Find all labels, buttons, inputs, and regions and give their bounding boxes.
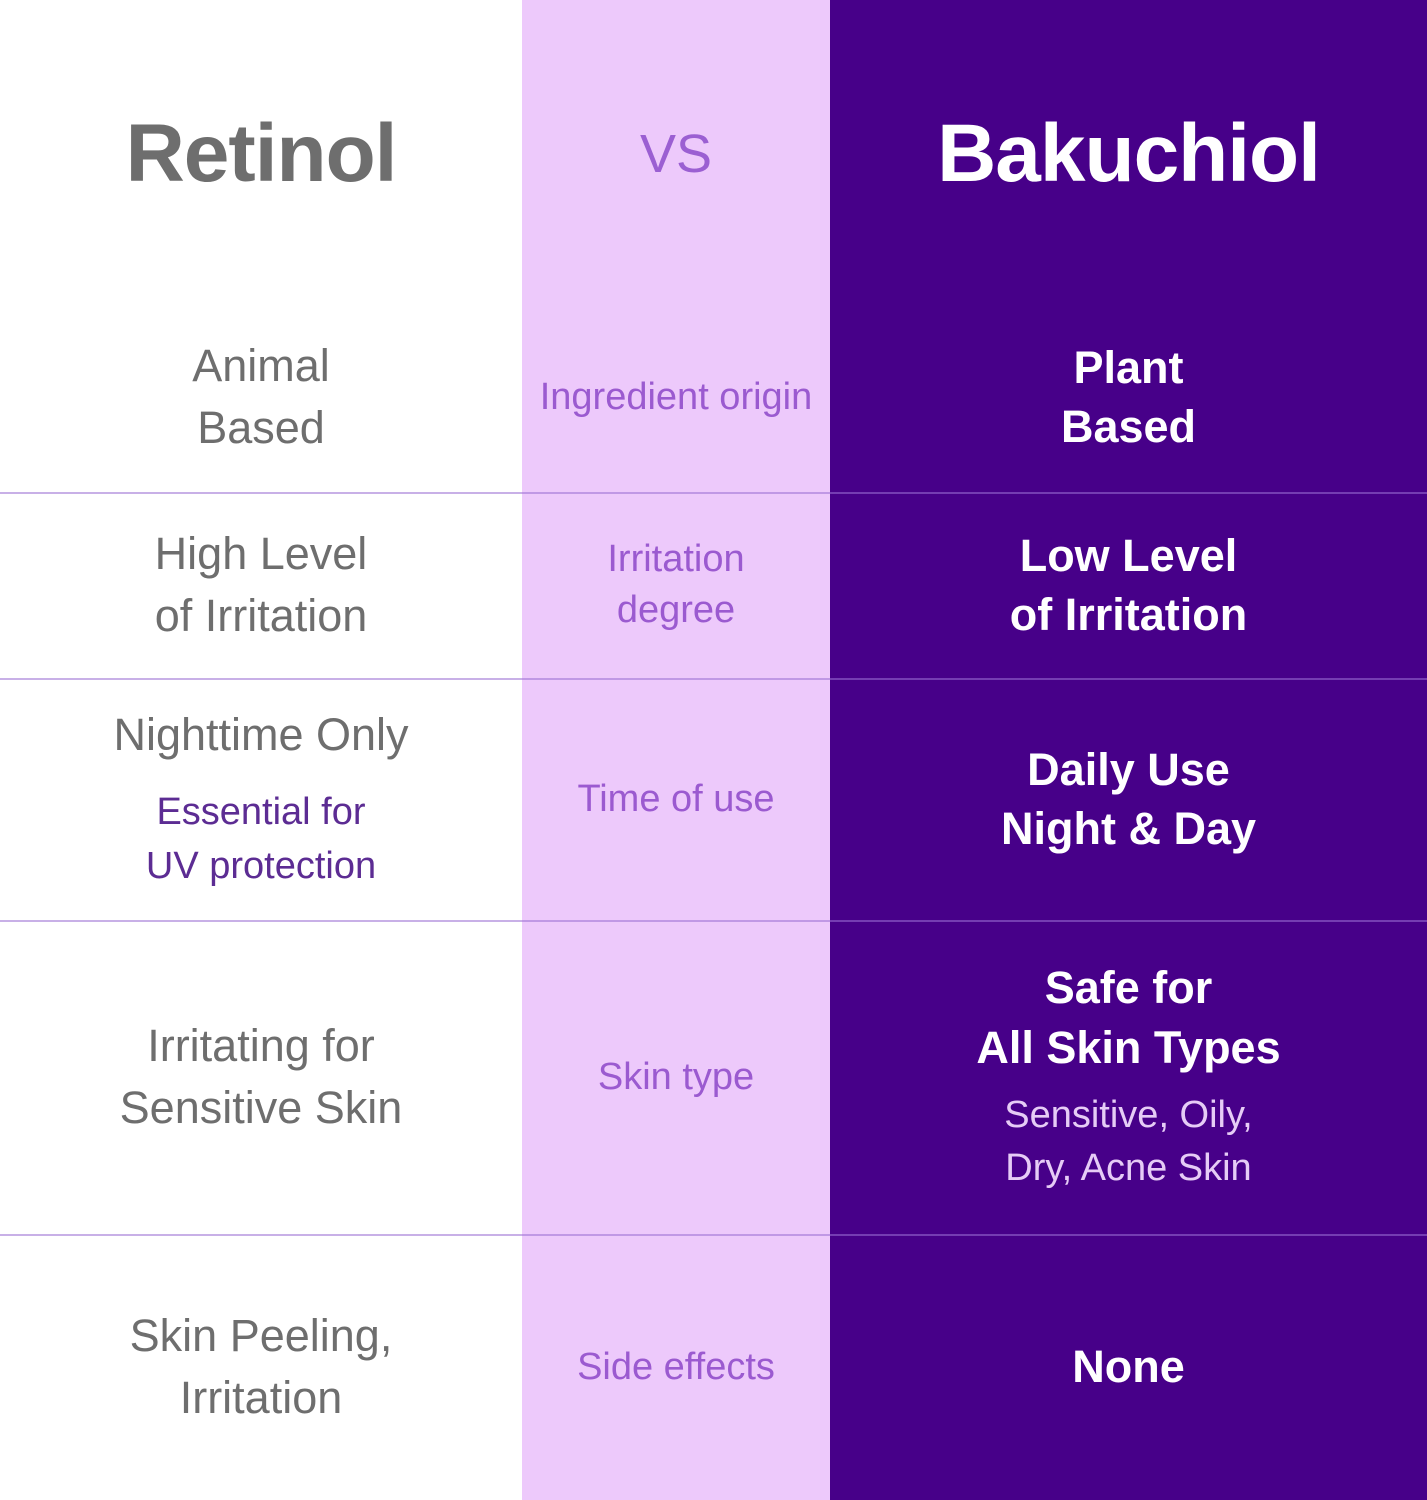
attribute-label: Skin type — [598, 1052, 754, 1103]
bakuchiol-value-note: Sensitive, Oily, Dry, Acne Skin — [1004, 1089, 1252, 1195]
vs-label: VS — [640, 127, 712, 181]
table-row: Irritating for Sensitive Skin — [0, 920, 522, 1234]
bakuchiol-value: Daily Use Night & Day — [1001, 740, 1256, 859]
table-row: Safe for All Skin Types Sensitive, Oily,… — [830, 920, 1427, 1234]
attribute-label: Time of use — [577, 774, 774, 825]
header-cell-retinol: Retinol — [0, 0, 522, 302]
table-row: Nighttime Only Essential for UV protecti… — [0, 678, 522, 920]
retinol-value: High Level of Irritation — [155, 523, 368, 647]
retinol-value: Nighttime Only — [113, 704, 408, 766]
retinol-value-note: Essential for UV protection — [146, 786, 376, 894]
table-row: Animal Based — [0, 302, 522, 492]
attribute-label: Ingredient origin — [540, 372, 813, 423]
bakuchiol-title: Bakuchiol — [937, 113, 1320, 195]
attribute-cell: Ingredient origin — [522, 302, 830, 492]
comparison-grid: Retinol VS Bakuchiol Animal Based Ingred… — [0, 0, 1427, 1500]
bakuchiol-value: None — [1072, 1337, 1185, 1396]
retinol-value: Animal Based — [192, 335, 330, 459]
table-row: Daily Use Night & Day — [830, 678, 1427, 920]
attribute-cell: Irritation degree — [522, 492, 830, 678]
bakuchiol-value: Plant Based — [1061, 338, 1196, 457]
comparison-chart: Retinol VS Bakuchiol Animal Based Ingred… — [0, 0, 1427, 1500]
attribute-label: Side effects — [577, 1342, 775, 1393]
table-row: Plant Based — [830, 302, 1427, 492]
attribute-cell: Skin type — [522, 920, 830, 1234]
table-row: None — [830, 1234, 1427, 1500]
table-row: Low Level of Irritation — [830, 492, 1427, 678]
bakuchiol-value: Safe for All Skin Types — [976, 958, 1280, 1077]
attribute-cell: Side effects — [522, 1234, 830, 1500]
attribute-label: Irritation degree — [607, 534, 744, 636]
header-cell-vs: VS — [522, 0, 830, 302]
retinol-value: Irritating for Sensitive Skin — [120, 1015, 403, 1139]
bakuchiol-value: Low Level of Irritation — [1010, 526, 1247, 645]
attribute-cell: Time of use — [522, 678, 830, 920]
table-row: Skin Peeling, Irritation — [0, 1234, 522, 1500]
header-cell-bakuchiol: Bakuchiol — [830, 0, 1427, 302]
table-row: High Level of Irritation — [0, 492, 522, 678]
retinol-title: Retinol — [126, 113, 397, 195]
retinol-value: Skin Peeling, Irritation — [130, 1305, 393, 1429]
